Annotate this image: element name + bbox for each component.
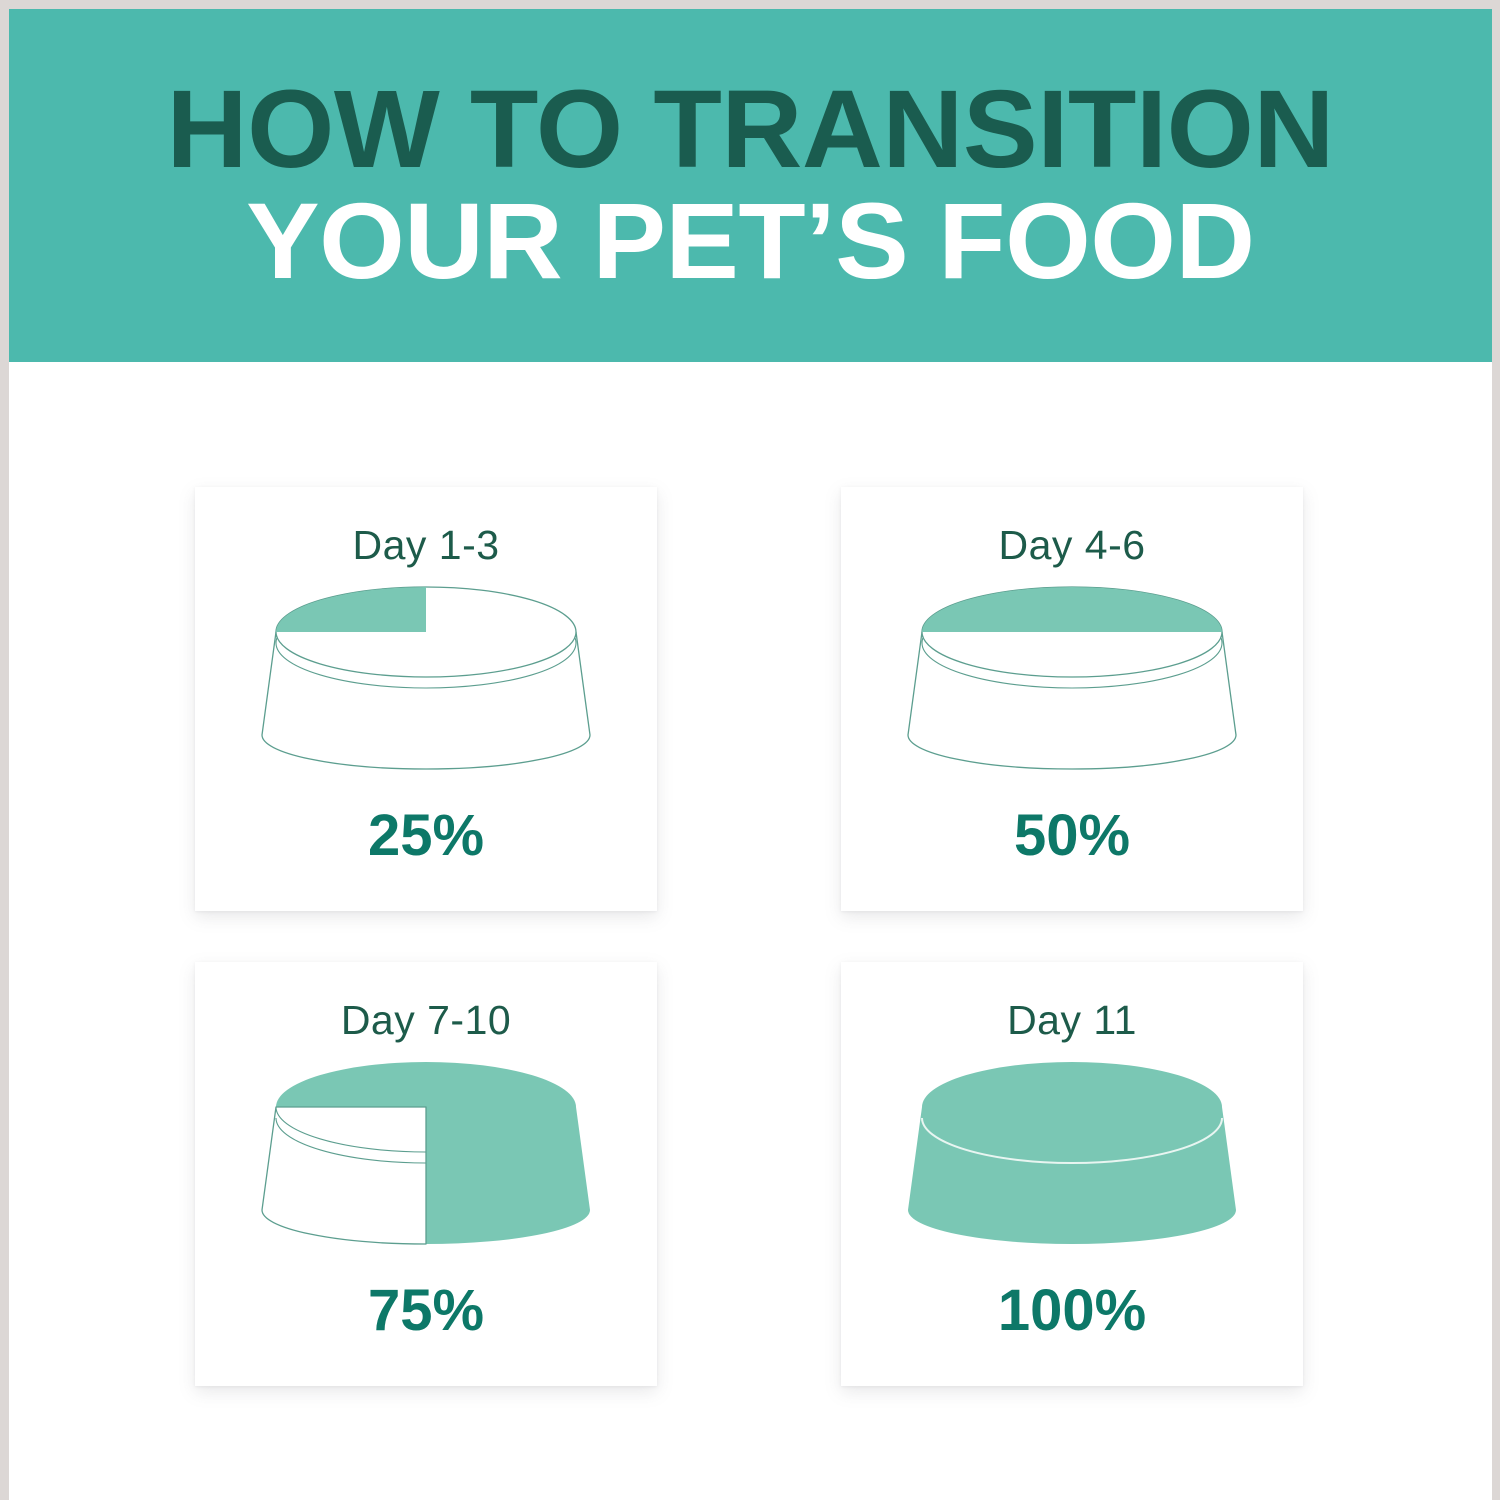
card-title: Day 7-10 [341, 1000, 511, 1041]
pet-bowl-50-icon [902, 580, 1242, 785]
card-title: Day 1-3 [352, 525, 499, 566]
page-title-line-1: HOW TO TRANSITION [167, 78, 1334, 183]
card-percent: 75% [368, 1282, 484, 1340]
card-percent: 100% [998, 1282, 1146, 1340]
day-card-1-3[interactable]: Day 1-3 [195, 487, 657, 911]
pet-bowl-100-icon [902, 1055, 1242, 1260]
infographic-canvas: HOW TO TRANSITION YOUR PET’S FOOD Day 1-… [0, 0, 1500, 1500]
card-title: Day 11 [1007, 1000, 1137, 1041]
day-card-7-10[interactable]: Day 7-10 [195, 962, 657, 1386]
card-percent: 50% [1014, 807, 1130, 865]
pet-bowl-25-icon [256, 580, 596, 785]
pet-bowl-75-icon [256, 1055, 596, 1260]
header-banner: HOW TO TRANSITION YOUR PET’S FOOD [9, 9, 1492, 362]
card-percent: 25% [368, 807, 484, 865]
card-title: Day 4-6 [998, 525, 1145, 566]
card-grid: Day 1-3 [0, 362, 1500, 1500]
day-card-11[interactable]: Day 11 100% [841, 962, 1303, 1386]
day-card-4-6[interactable]: Day 4-6 50% [841, 487, 1303, 911]
page-title-line-2: YOUR PET’S FOOD [246, 190, 1254, 293]
